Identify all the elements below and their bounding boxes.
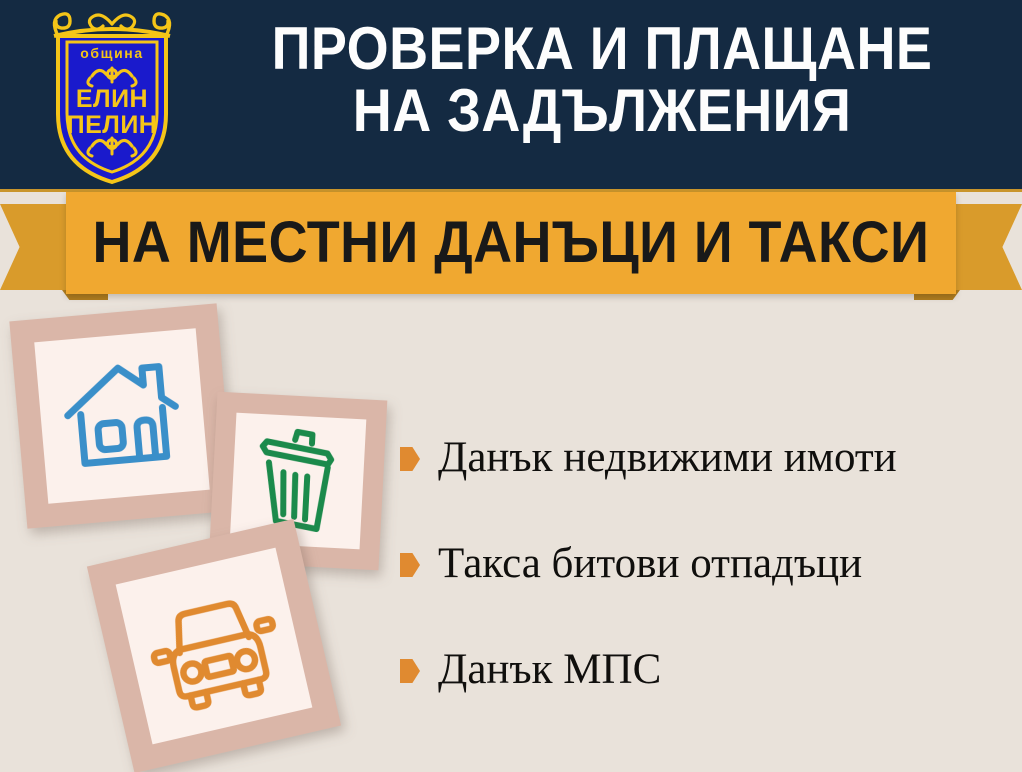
list-item[interactable]: Такса битови отпадъци: [400, 538, 1010, 590]
stamp-perforated-border: [9, 303, 234, 528]
bullet-arrow-icon: [400, 553, 420, 577]
page-title: ПРОВЕРКА И ПЛАЩАНЕ НА ЗАДЪЛЖЕНИЯ: [196, 18, 1008, 142]
poster-canvas: община ЕЛИН ПЕЛИН ПРОВЕРКА И ПЛАЩАНЕ НА …: [0, 0, 1022, 772]
bullet-arrow-icon: [400, 659, 420, 683]
svg-text:община: община: [80, 45, 143, 61]
svg-text:ПЕЛИН: ПЕЛИН: [67, 111, 158, 139]
list-item-label: Данък недвижими имоти: [438, 434, 897, 482]
page-title-line-2: НА ЗАДЪЛЖЕНИЯ: [237, 80, 968, 142]
ribbon-label: НА МЕСТНИ ДАНЪЦИ И ТАКСИ: [93, 214, 930, 272]
list-item-label: Такса битови отпадъци: [438, 540, 862, 588]
tax-type-list: Данък недвижими имоти Такса битови отпад…: [400, 432, 1010, 750]
list-item-label: Данък МПС: [438, 646, 661, 694]
list-item[interactable]: Данък недвижими имоти: [400, 432, 1010, 484]
stamp-property: [9, 303, 234, 528]
municipality-logo: община ЕЛИН ПЕЛИН: [36, 6, 188, 186]
list-item[interactable]: Данък МПС: [400, 644, 1010, 696]
header-banner: община ЕЛИН ПЕЛИН ПРОВЕРКА И ПЛАЩАНЕ НА …: [0, 0, 1022, 192]
page-title-line-1: ПРОВЕРКА И ПЛАЩАНЕ: [237, 18, 968, 80]
ribbon-banner: НА МЕСТНИ ДАНЪЦИ И ТАКСИ: [66, 192, 956, 294]
bullet-arrow-icon: [400, 447, 420, 471]
subtitle-ribbon: НА МЕСТНИ ДАНЪЦИ И ТАКСИ: [0, 192, 1022, 304]
svg-text:ЕЛИН: ЕЛИН: [76, 85, 148, 113]
coat-of-arms-icon: община ЕЛИН ПЕЛИН: [36, 6, 188, 186]
